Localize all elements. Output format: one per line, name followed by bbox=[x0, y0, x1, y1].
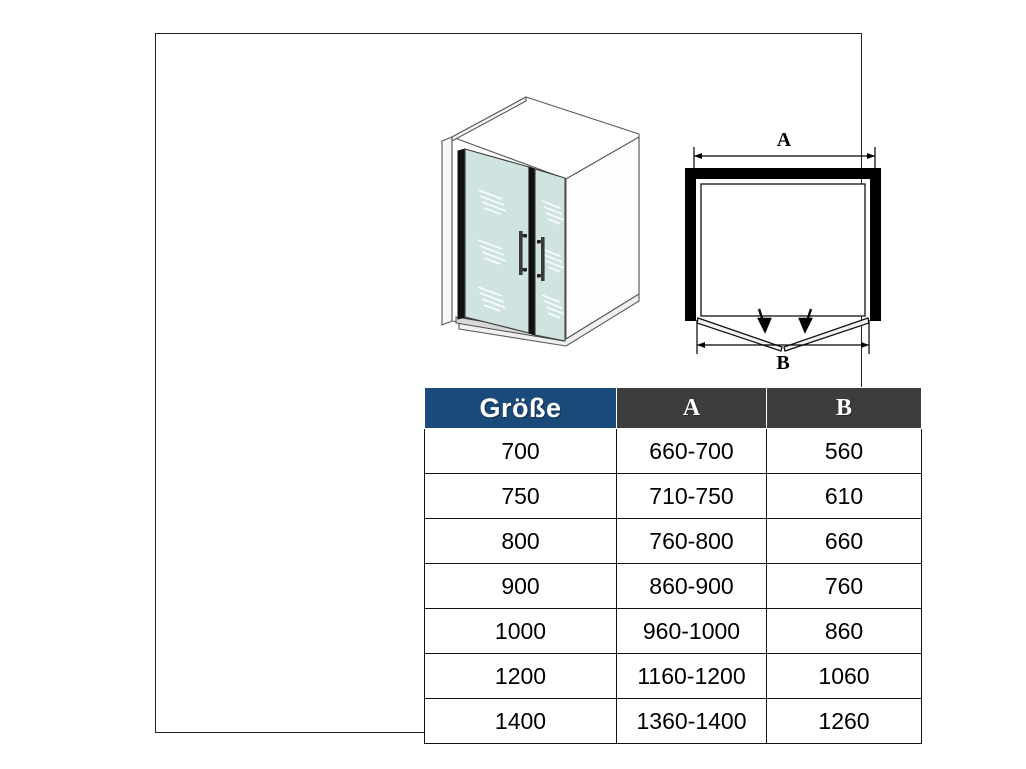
dimension-b-label: B bbox=[776, 352, 789, 374]
table-body: 700 660-700 560 750 710-750 610 800 760-… bbox=[425, 429, 922, 744]
cell-size: 750 bbox=[425, 474, 617, 519]
size-specification-table: Größe A B 700 660-700 560 750 710-750 61… bbox=[424, 387, 922, 744]
glass-door-right bbox=[535, 169, 565, 341]
cell-size: 700 bbox=[425, 429, 617, 474]
table-row: 1000 960-1000 860 bbox=[425, 609, 922, 654]
cell-b: 1260 bbox=[767, 699, 922, 744]
cell-size: 1000 bbox=[425, 609, 617, 654]
dimension-b bbox=[697, 320, 869, 354]
table-row: 1400 1360-1400 1260 bbox=[425, 699, 922, 744]
center-divider bbox=[529, 167, 535, 335]
shower-enclosure-plan-view: A bbox=[671, 129, 911, 374]
diagram-outer-border: A bbox=[155, 33, 862, 733]
cell-a: 710-750 bbox=[617, 474, 767, 519]
cell-b: 660 bbox=[767, 519, 922, 564]
table-row: 750 710-750 610 bbox=[425, 474, 922, 519]
cell-b: 1060 bbox=[767, 654, 922, 699]
dimension-a-label: A bbox=[777, 129, 792, 151]
cell-size: 800 bbox=[425, 519, 617, 564]
column-header-size: Größe bbox=[425, 388, 617, 429]
table-header-row: Größe A B bbox=[425, 388, 922, 429]
table-row: 800 760-800 660 bbox=[425, 519, 922, 564]
cell-a: 1360-1400 bbox=[617, 699, 767, 744]
cell-size: 1400 bbox=[425, 699, 617, 744]
cell-a: 1160-1200 bbox=[617, 654, 767, 699]
door-leaf-right bbox=[784, 318, 869, 351]
cell-a: 960-1000 bbox=[617, 609, 767, 654]
cell-a: 860-900 bbox=[617, 564, 767, 609]
table-row: 1200 1160-1200 1060 bbox=[425, 654, 922, 699]
column-header-a: A bbox=[617, 388, 767, 429]
cell-b: 860 bbox=[767, 609, 922, 654]
column-header-b: B bbox=[767, 388, 922, 429]
cell-a: 760-800 bbox=[617, 519, 767, 564]
shower-enclosure-isometric-view bbox=[434, 89, 659, 364]
cell-b: 610 bbox=[767, 474, 922, 519]
left-frame-post bbox=[458, 149, 465, 319]
cell-a: 660-700 bbox=[617, 429, 767, 474]
door-swing-paths bbox=[697, 318, 869, 351]
cell-b: 560 bbox=[767, 429, 922, 474]
table-row: 700 660-700 560 bbox=[425, 429, 922, 474]
enclosure-inner-outline bbox=[701, 184, 865, 316]
table-row: 900 860-900 760 bbox=[425, 564, 922, 609]
cell-size: 900 bbox=[425, 564, 617, 609]
cell-size: 1200 bbox=[425, 654, 617, 699]
cell-b: 760 bbox=[767, 564, 922, 609]
